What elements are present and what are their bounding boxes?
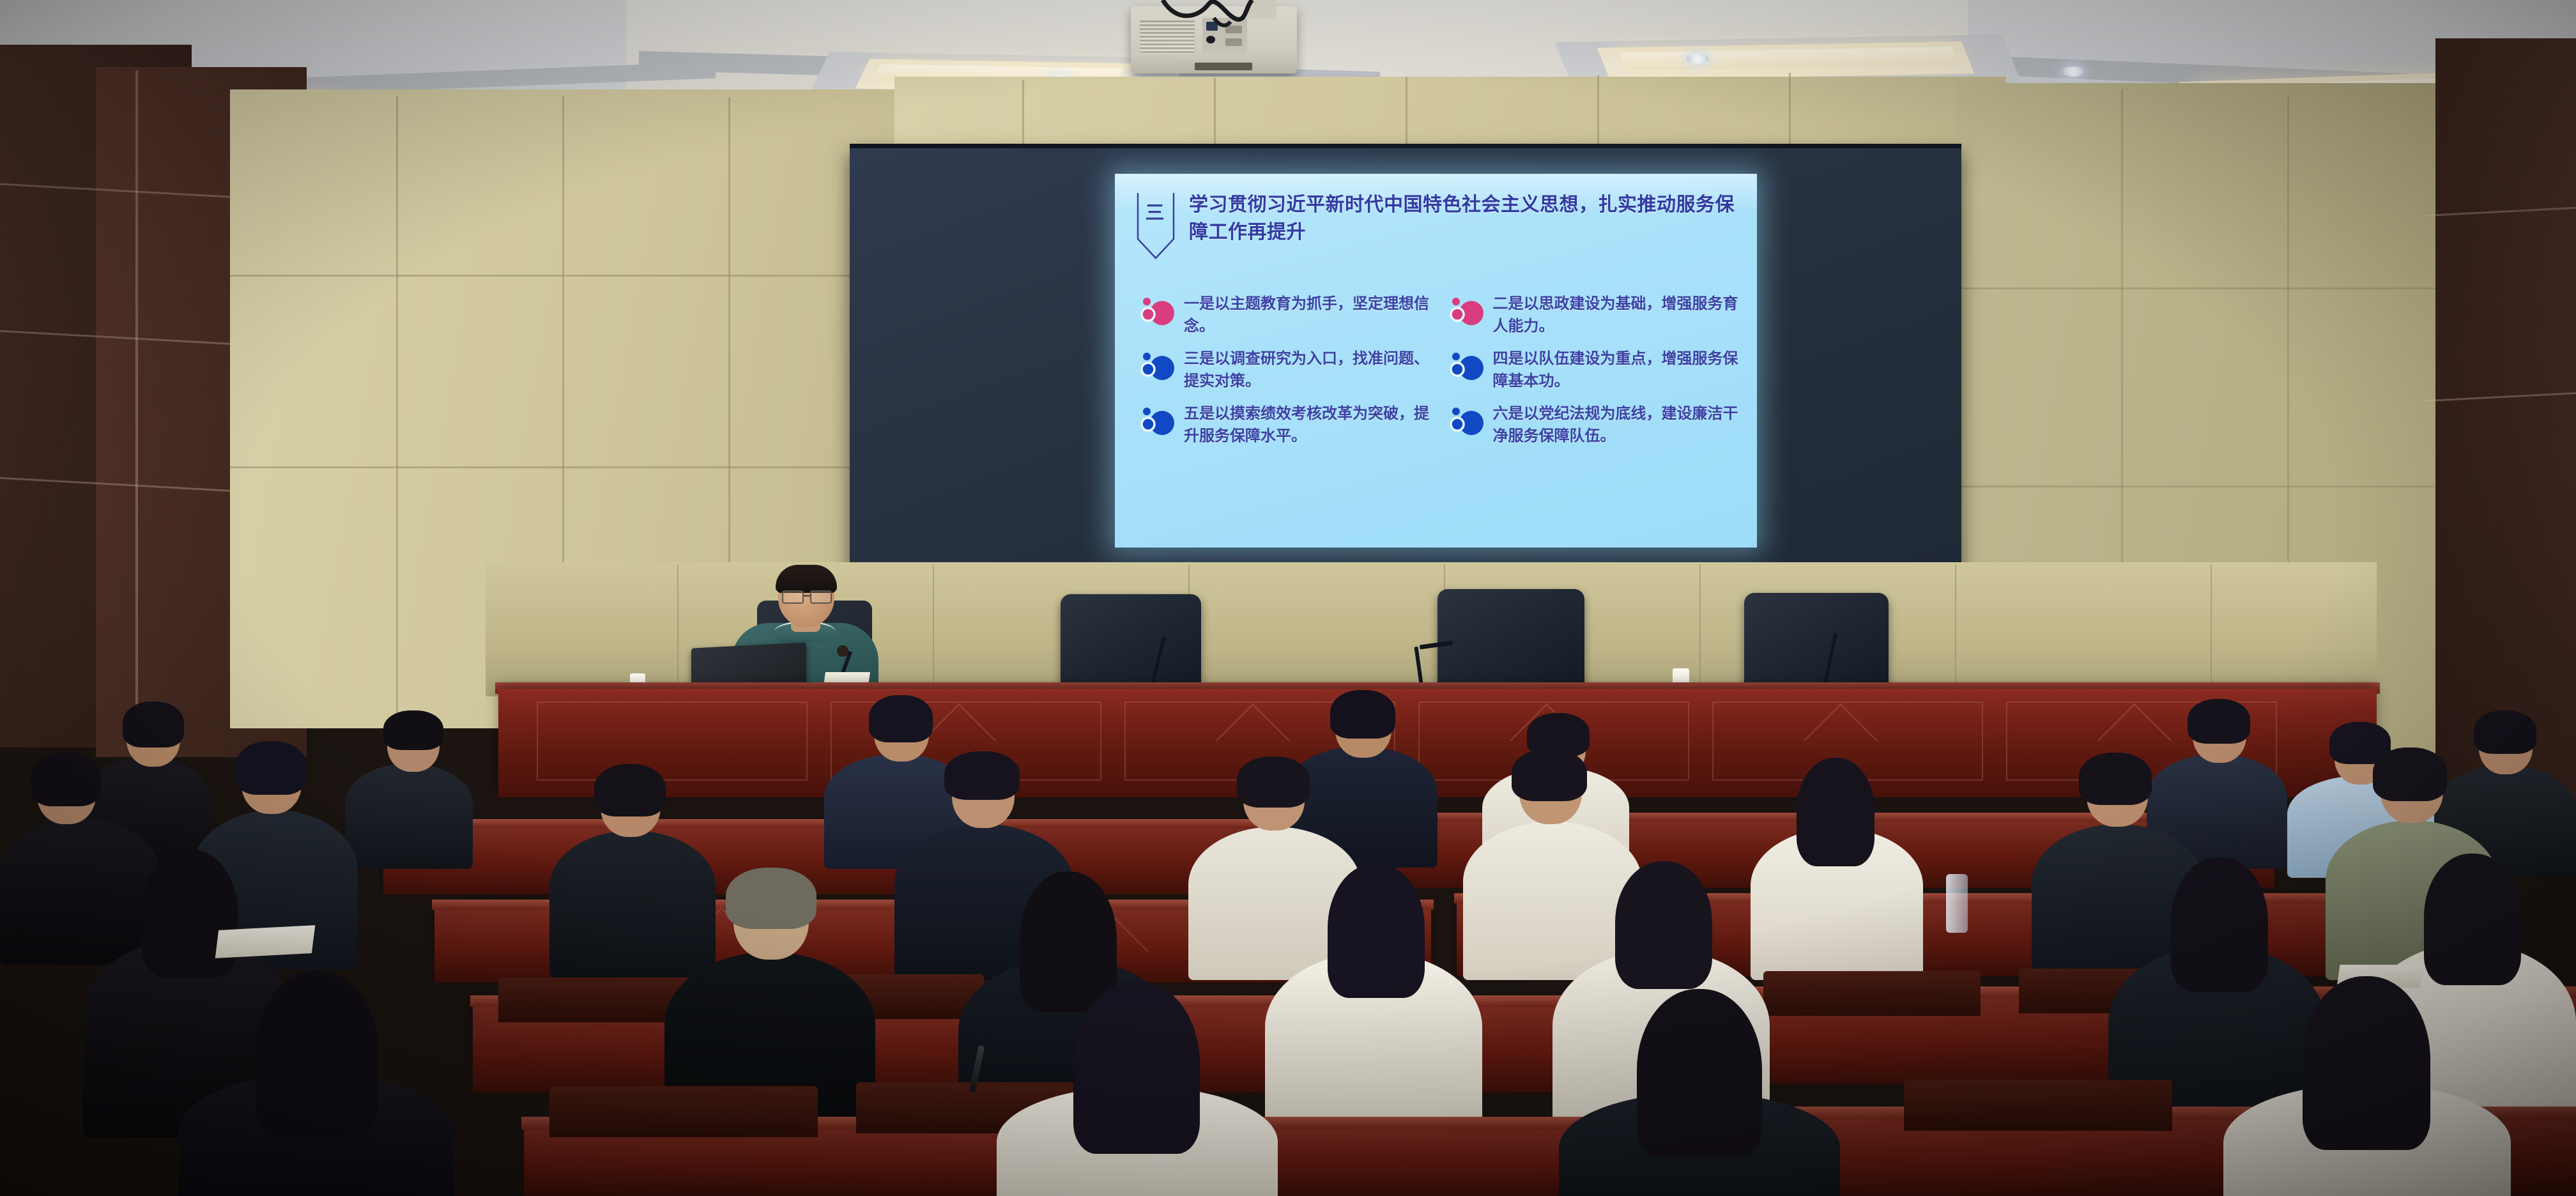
stage-wall-line-2 bbox=[933, 565, 934, 693]
stage-wall-line-1 bbox=[677, 565, 678, 693]
projector-lens bbox=[1195, 63, 1252, 70]
wall-right-dark-panel bbox=[2435, 38, 2576, 805]
wall-panel-line-h1 bbox=[230, 275, 926, 277]
stage-wall-line-5 bbox=[1699, 565, 1701, 693]
bullet-item-5: 五是以摸索绩效考核改革为突破，提升服务保障水平。 bbox=[1139, 402, 1433, 447]
projector-cables bbox=[1150, 0, 1303, 32]
bullet-marker-pink-icon bbox=[1448, 295, 1484, 328]
audience-seatback-3 bbox=[1763, 971, 1981, 1016]
ceiling-downlight-4 bbox=[2062, 66, 2084, 77]
projector-av-port bbox=[1206, 36, 1215, 43]
slide-bullet-grid: 一是以主题教育为抓手，坚定理想信念。 二是以思政建设为基础，增强服务育人能力。 bbox=[1139, 293, 1742, 447]
podium-panel-1 bbox=[537, 701, 808, 781]
slide-title: 学习贯彻习近平新时代中国特色社会主义思想，扎实推动服务保障工作再提升 bbox=[1189, 192, 1738, 263]
wall-panel-line-h3 bbox=[1955, 287, 2453, 289]
conference-hall-photo: 三 学习贯彻习近平新时代中国特色社会主义思想，扎实推动服务保障工作再提升 一是以… bbox=[0, 0, 2576, 1196]
audience-seatback-7 bbox=[1904, 1080, 2172, 1131]
bullet-text: 六是以党纪法规为底线，建设廉洁干净服务保障队伍。 bbox=[1493, 402, 1742, 447]
bullet-text: 四是以队伍建设为重点，增强服务保障基本功。 bbox=[1493, 348, 1742, 392]
wall-panel-line-h2 bbox=[230, 466, 926, 468]
stage-wall-line-7 bbox=[2211, 565, 2212, 693]
bullet-marker-blue-icon bbox=[1139, 405, 1175, 438]
bullet-marker-blue-icon bbox=[1139, 350, 1175, 383]
section-number-badge: 三 bbox=[1137, 192, 1177, 263]
stage-chair-2[interactable] bbox=[1437, 589, 1584, 696]
bullet-item-6: 六是以党纪法规为底线，建设廉洁干净服务保障队伍。 bbox=[1448, 402, 1742, 447]
section-number-text: 三 bbox=[1137, 197, 1174, 225]
ceiling-downlight-3 bbox=[1687, 54, 1708, 64]
bullet-text: 五是以摸索绩效考核改革为突破，提升服务保障水平。 bbox=[1184, 402, 1433, 447]
bullet-item-2: 二是以思政建设为基础，增强服务育人能力。 bbox=[1448, 293, 1742, 337]
bullet-text: 三是以调查研究为入口，找准问题、提实对策。 bbox=[1184, 348, 1433, 392]
bullet-marker-blue-icon bbox=[1448, 405, 1484, 438]
slide-header: 三 学习贯彻习近平新时代中国特色社会主义思想，扎实推动服务保障工作再提升 bbox=[1137, 192, 1738, 263]
bullet-marker-pink-icon bbox=[1139, 295, 1175, 328]
bullet-item-4: 四是以队伍建设为重点，增强服务保障基本功。 bbox=[1448, 348, 1742, 392]
wall-grout-vertical bbox=[135, 70, 138, 760]
bullet-text: 二是以思政建设为基础，增强服务育人能力。 bbox=[1493, 293, 1742, 337]
stage-chair-3[interactable] bbox=[1744, 593, 1889, 696]
presentation-slide: 三 学习贯彻习近平新时代中国特色社会主义思想，扎实推动服务保障工作再提升 一是以… bbox=[1115, 174, 1757, 548]
bullet-text: 一是以主题教育为抓手，坚定理想信念。 bbox=[1184, 293, 1433, 337]
stage-wall-line-6 bbox=[1955, 565, 1956, 693]
stage-chair-1[interactable] bbox=[1061, 594, 1201, 696]
audience-notebook bbox=[215, 925, 316, 958]
presenter-glasses-icon bbox=[782, 590, 832, 601]
wall-panel-line-h4 bbox=[1955, 486, 2453, 487]
audience-seatback-5 bbox=[549, 1086, 818, 1137]
wall-panel-line-1 bbox=[396, 96, 398, 728]
bullet-item-3: 三是以调查研究为入口，找准问题、提实对策。 bbox=[1139, 348, 1433, 392]
presenter-hair bbox=[776, 565, 837, 593]
bullet-item-1: 一是以主题教育为抓手，坚定理想信念。 bbox=[1139, 293, 1433, 337]
presenter-microphone-head bbox=[837, 645, 848, 657]
bullet-marker-blue-icon bbox=[1448, 350, 1484, 383]
projector-usb-port bbox=[1225, 38, 1242, 46]
audience-bottle bbox=[1946, 874, 1968, 933]
